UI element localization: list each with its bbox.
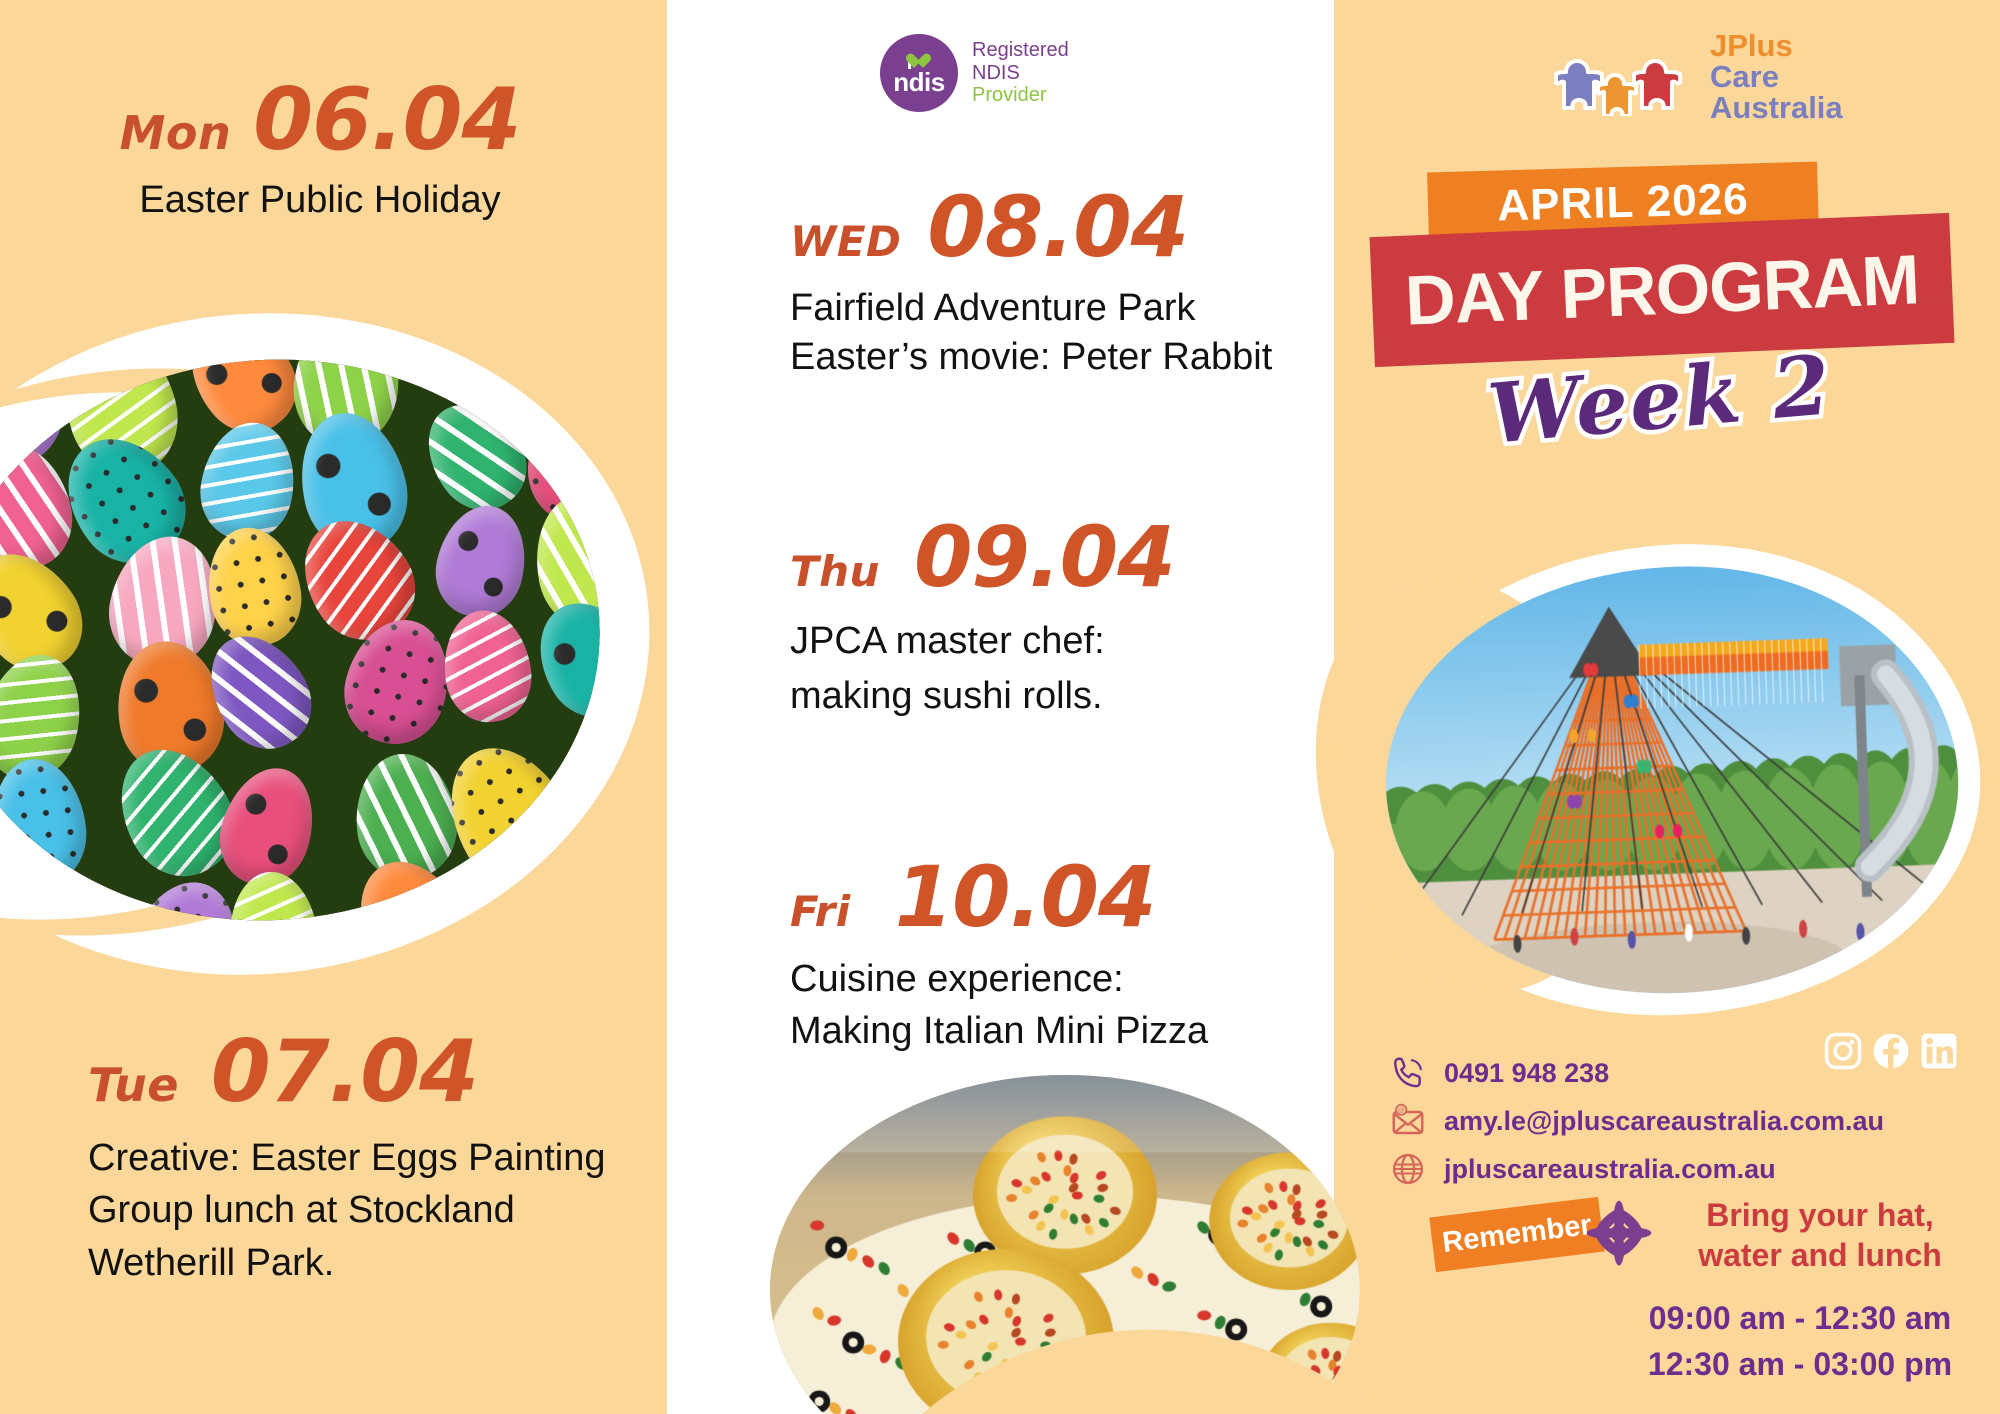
day-description-thursday: JPCA master chef: making sushi rolls. [790,614,1310,723]
jplus-line-2: Care [1710,61,1843,92]
ndis-registered-provider-logo: I ndis Registered NDIS Provider [880,34,1069,112]
ndis-provider-text: Registered NDIS Provider [972,39,1069,106]
day-date-thursday: 09.04 [914,508,1175,606]
easter-eggs-photo [0,332,623,947]
ndis-line-3: Provider [972,84,1069,106]
website-url[interactable]: jpluscareaustralia.com.au [1444,1154,1776,1185]
contact-row-phone: 0491 948 238 [1390,1055,1884,1091]
jplus-care-australia-logo: JPlus Care Australia [1548,30,1843,123]
day-of-week-monday: Mon [120,106,232,160]
day-block-monday: Mon 06.04 Easter Public Holiday [0,70,640,225]
globe-icon [1390,1151,1426,1187]
day-description-wednesday: Fairfield Adventure Park Easter’s movie:… [790,284,1310,383]
email-address[interactable]: amy.le@jpluscareaustralia.com.au [1444,1106,1884,1137]
svg-text:@: @ [1398,1107,1405,1114]
day-description-friday: Cuisine experience: Making Italian Mini … [790,954,1310,1057]
day-description-tuesday: Creative: Easter Eggs Painting Group lun… [88,1132,648,1289]
day-date-wednesday: 08.04 [927,178,1188,276]
heart-icon [914,54,931,70]
puzzle-people-svg [1548,38,1698,116]
day-header-thursday: Thu 09.04 [790,508,1310,606]
brochure-page: Mon 06.04 Easter Public Holiday Tue 07.0… [0,0,2000,1414]
ndis-line-1: Registered [972,39,1069,61]
session-time-2: 12:30 am - 03:00 pm [1600,1341,2000,1387]
jplus-line-1: JPlus [1710,30,1843,61]
day-block-tuesday: Tue 07.04 Creative: Easter Eggs Painting… [88,1022,648,1289]
puzzle-people-icon [1548,38,1698,116]
week-script-label: Week 2 [1440,335,1880,465]
ndis-badge-icon: I ndis [880,34,958,112]
adventure-park-photo-frame [1360,545,1980,1015]
week-number: Week 2 [1484,337,1835,463]
contact-row-website: jpluscareaustralia.com.au [1390,1151,1884,1187]
ndis-wordmark: ndis [893,69,944,95]
day-date-tuesday: 07.04 [211,1022,478,1122]
day-date-friday: 10.04 [895,848,1156,946]
day-description-monday: Easter Public Holiday [0,176,640,225]
session-times: 09:00 am - 12:30 am 12:30 am - 03:00 pm [1600,1295,2000,1388]
day-block-wednesday: WED 08.04 Fairfield Adventure Park Easte… [790,178,1310,383]
jplus-wordmark: JPlus Care Australia [1710,30,1843,123]
easter-eggs-photo-frame [0,300,690,1000]
day-of-week-thursday: Thu [790,547,880,596]
ndis-line-2: NDIS [972,62,1069,84]
day-date-monday: 06.04 [253,70,520,170]
day-of-week-friday: Fri [790,887,851,936]
phone-number[interactable]: 0491 948 238 [1444,1058,1609,1089]
day-header-wednesday: WED 08.04 [790,178,1310,276]
day-header-tuesday: Tue 07.04 [88,1022,648,1122]
email-icon: @ [1390,1103,1426,1139]
day-block-thursday: Thu 09.04 JPCA master chef: making sushi… [790,508,1310,723]
contact-details: 0491 948 238 @ amy.le@jpluscareaustralia… [1390,1055,1884,1199]
reminder-message: Bring your hat, water and lunch [1660,1195,1980,1275]
day-of-week-wednesday: WED [790,217,901,266]
day-header-monday: Mon 06.04 [0,70,640,170]
linkedin-icon[interactable] [1920,1032,1958,1070]
session-time-1: 09:00 am - 12:30 am [1600,1295,2000,1341]
day-block-friday: Fri 10.04 Cuisine experience: Making Ita… [790,848,1310,1057]
day-of-week-tuesday: Tue [88,1058,179,1112]
flower-star-icon [1586,1200,1652,1266]
jplus-line-3: Australia [1710,92,1843,123]
phone-icon [1390,1055,1426,1091]
day-program-title: DAY PROGRAM [1403,239,1920,340]
remember-label: Remember [1441,1209,1594,1260]
contact-row-email: @ amy.le@jpluscareaustralia.com.au [1390,1103,1884,1139]
day-header-friday: Fri 10.04 [790,848,1310,946]
